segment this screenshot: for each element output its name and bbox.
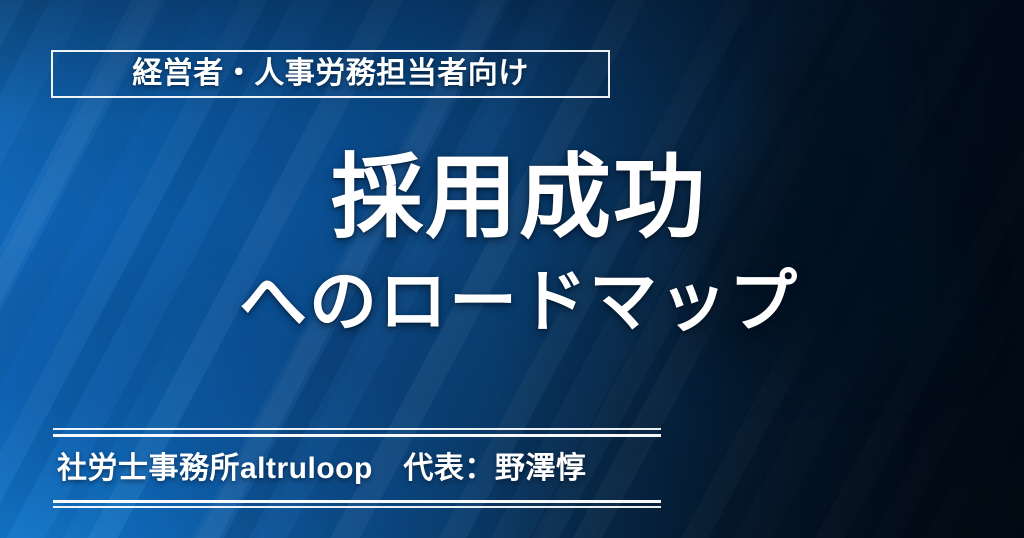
main-title-line-1: 採用成功 [0, 152, 1024, 244]
audience-badge: 経営者・人事労務担当者向け [51, 50, 610, 98]
footer-credit-text: 社労士事務所altruloop 代表：野澤惇 [53, 436, 661, 500]
audience-badge-label: 経営者・人事労務担当者向け [132, 59, 529, 89]
footer-credit-block: 社労士事務所altruloop 代表：野澤惇 [53, 428, 661, 508]
poster-content: 経営者・人事労務担当者向け 採用成功 へのロードマップ 社労士事務所altrul… [0, 0, 1024, 538]
footer-rule-bottom-thin [53, 506, 661, 508]
main-title-line-2: へのロードマップ [0, 268, 1024, 336]
footer-rule-top-thick [53, 434, 661, 437]
footer-rule-bottom-thick [53, 500, 661, 503]
poster-canvas: 経営者・人事労務担当者向け 採用成功 へのロードマップ 社労士事務所altrul… [0, 0, 1024, 538]
footer-rule-top-thin [53, 428, 661, 430]
footer-rule-bottom [53, 500, 661, 508]
main-title: 採用成功 へのロードマップ [0, 152, 1024, 336]
footer-rule-top [53, 428, 661, 436]
